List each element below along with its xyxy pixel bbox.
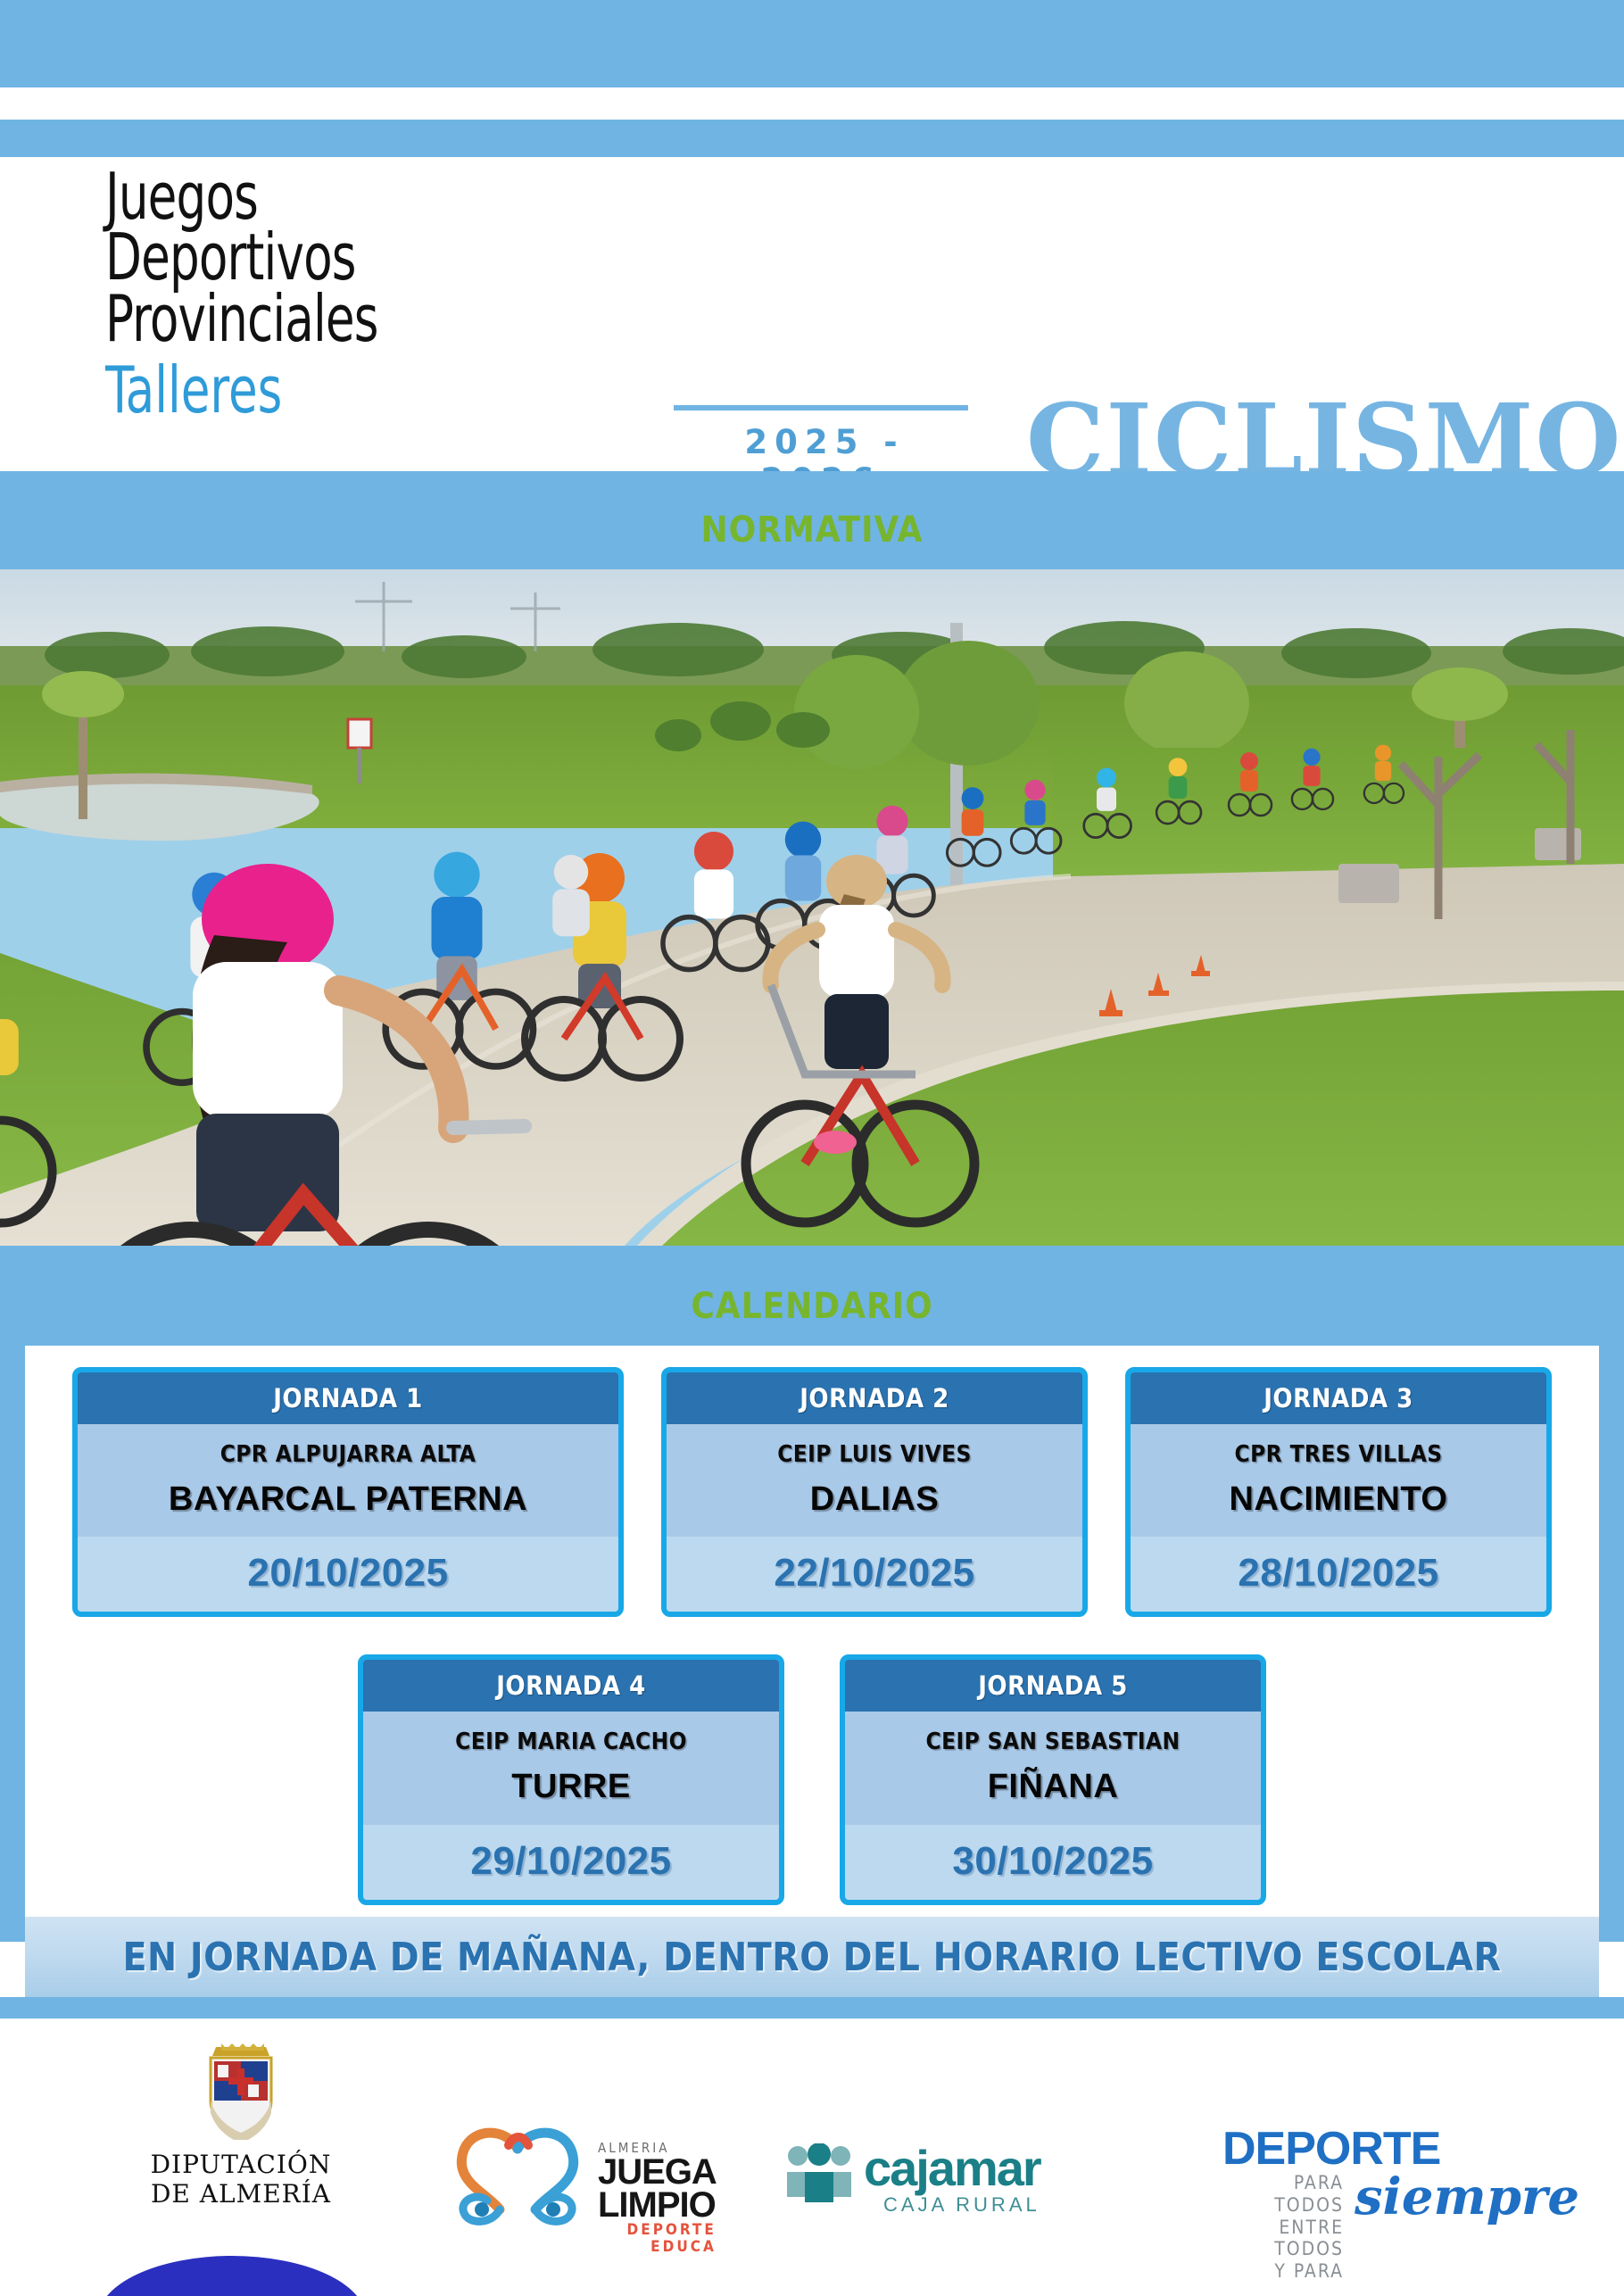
diputacion-crest-icon <box>198 2042 284 2140</box>
top-accent-gap <box>0 87 1624 120</box>
sponsor-cajamar[interactable]: cajamar CAJA RURAL <box>785 2143 1142 2217</box>
juega-limpio-line1: JUEGA <box>598 2156 717 2189</box>
jornada-school: CEIP LUIS VIVES <box>674 1442 1075 1468</box>
juega-limpio-line2: LIMPIO <box>598 2189 717 2222</box>
deporte-tagline-line3: Y PARA <box>1222 2260 1344 2283</box>
jornada-date: 28/10/2025 <box>1131 1537 1546 1612</box>
section-band-normativa-label: NORMATIVA <box>0 471 1624 548</box>
top-accent-bar-primary <box>0 0 1624 87</box>
calendar-row-1: JORNADA 1 CPR ALPUJARRA ALTA BAYARCAL PA… <box>25 1346 1599 1617</box>
diputacion-name-line1: DIPUTACIÓN <box>71 2150 410 2179</box>
calendar-row-2: JORNADA 4 CEIP MARIA CACHO TURRE 29/10/2… <box>25 1617 1599 1904</box>
sponsor-strip: DIPUTACIÓN DE ALMERÍA ALMERIA JUEGA <box>0 2018 1624 2296</box>
jornada-title: JORNADA 5 <box>845 1660 1261 1712</box>
jornada-card[interactable]: JORNADA 5 CEIP SAN SEBASTIAN FIÑANA 30/1… <box>840 1654 1266 1904</box>
deporte-tagline-line1: PARA TODOS <box>1222 2172 1344 2217</box>
calendar-panel: JORNADA 1 CPR ALPUJARRA ALTA BAYARCAL PA… <box>25 1346 1599 1917</box>
jornada-title: JORNADA 1 <box>78 1372 618 1424</box>
brand-line-1: Juegos <box>105 166 378 227</box>
section-band-calendario[interactable]: CALENDARIO <box>0 1246 1624 1346</box>
hero-photo <box>0 569 1624 1246</box>
calendar-section: JORNADA 1 CPR ALPUJARRA ALTA BAYARCAL PA… <box>0 1346 1624 1942</box>
jornada-town: BAYARCAL PATERNA <box>85 1482 611 1518</box>
jornada-town: TURRE <box>370 1770 772 1805</box>
brand-line-3: Provinciales <box>105 288 378 349</box>
cajamar-wordmark: cajamar <box>864 2143 1040 2193</box>
notice-under-bar <box>0 1997 1624 2018</box>
brand-subtitle-talleres: Talleres <box>105 360 378 420</box>
jornada-card[interactable]: JORNADA 4 CEIP MARIA CACHO TURRE 29/10/2… <box>358 1654 784 1904</box>
jornada-body: CEIP SAN SEBASTIAN FIÑANA <box>845 1712 1261 1824</box>
diputacion-name-line2: DE ALMERÍA <box>71 2179 410 2209</box>
brand-lockup: Juegos Deportivos Provinciales Talleres <box>105 166 438 421</box>
jornada-body: CPR ALPUJARRA ALTA BAYARCAL PATERNA <box>78 1424 618 1537</box>
deporte-tagline-line2: ENTRE TODOS <box>1222 2217 1344 2261</box>
schedule-notice-text: EN JORNADA DE MAÑANA, DENTRO DEL HORARIO… <box>122 1935 1501 1980</box>
section-band-calendario-label: CALENDARIO <box>0 1246 1624 1324</box>
jornada-card[interactable]: JORNADA 1 CPR ALPUJARRA ALTA BAYARCAL PA… <box>72 1367 624 1617</box>
jornada-title: JORNADA 4 <box>363 1660 779 1712</box>
juega-limpio-tag2: EDUCA <box>598 2239 717 2257</box>
sponsor-juega-limpio[interactable]: ALMERIA JUEGA LIMPIO DEPORTE EDUCA <box>446 2124 767 2257</box>
sponsor-diputacion-almeria[interactable]: DIPUTACIÓN DE ALMERÍA <box>71 2042 410 2209</box>
jornada-school: CPR ALPUJARRA ALTA <box>85 1442 611 1468</box>
jornada-date: 29/10/2025 <box>363 1825 779 1900</box>
jornada-date: 22/10/2025 <box>667 1537 1082 1612</box>
deporte-script-siempre: siempre <box>1355 2172 1579 2222</box>
section-band-normativa[interactable]: NORMATIVA <box>0 471 1624 569</box>
top-accent-bar-secondary <box>0 120 1624 157</box>
cajamar-subtitle: CAJA RURAL <box>864 2193 1040 2217</box>
cajamar-people-icon <box>785 2143 853 2206</box>
deporte-tagline: PARA TODOS ENTRE TODOS Y PARA <box>1222 2172 1344 2283</box>
jornada-card[interactable]: JORNADA 3 CPR TRES VILLAS NACIMIENTO 28/… <box>1125 1367 1552 1617</box>
jornada-date: 30/10/2025 <box>845 1825 1261 1900</box>
jornada-title: JORNADA 2 <box>667 1372 1082 1424</box>
jornada-town: DALIAS <box>674 1482 1075 1518</box>
juega-limpio-heart-icon <box>446 2124 589 2240</box>
jornada-school: CEIP SAN SEBASTIAN <box>852 1729 1254 1755</box>
poster: Juegos Deportivos Provinciales Talleres … <box>0 0 1624 2296</box>
jornada-body: CPR TRES VILLAS NACIMIENTO <box>1131 1424 1546 1537</box>
jornada-town: FIÑANA <box>852 1770 1254 1805</box>
brand-line-2: Deportivos <box>105 227 378 287</box>
jornada-body: CEIP LUIS VIVES DALIAS <box>667 1424 1082 1537</box>
jornada-school: CPR TRES VILLAS <box>1138 1442 1539 1468</box>
schedule-notice: EN JORNADA DE MAÑANA, DENTRO DEL HORARIO… <box>25 1917 1599 1997</box>
jornada-title: JORNADA 3 <box>1131 1372 1546 1424</box>
sponsor-deporte-siempre[interactable]: DEPORTE PARA TODOS ENTRE TODOS Y PARA si… <box>1222 2126 1579 2283</box>
jornada-card[interactable]: JORNADA 2 CEIP LUIS VIVES DALIAS 22/10/2… <box>661 1367 1088 1617</box>
deporte-wordmark: DEPORTE <box>1222 2126 1579 2172</box>
poster-header: Juegos Deportivos Provinciales Talleres … <box>0 157 1624 471</box>
jornada-town: NACIMIENTO <box>1138 1482 1539 1518</box>
jornada-date: 20/10/2025 <box>78 1537 618 1612</box>
jornada-school: CEIP MARIA CACHO <box>370 1729 772 1755</box>
jornada-body: CEIP MARIA CACHO TURRE <box>363 1712 779 1824</box>
diputacion-name: DIPUTACIÓN DE ALMERÍA <box>71 2150 410 2209</box>
